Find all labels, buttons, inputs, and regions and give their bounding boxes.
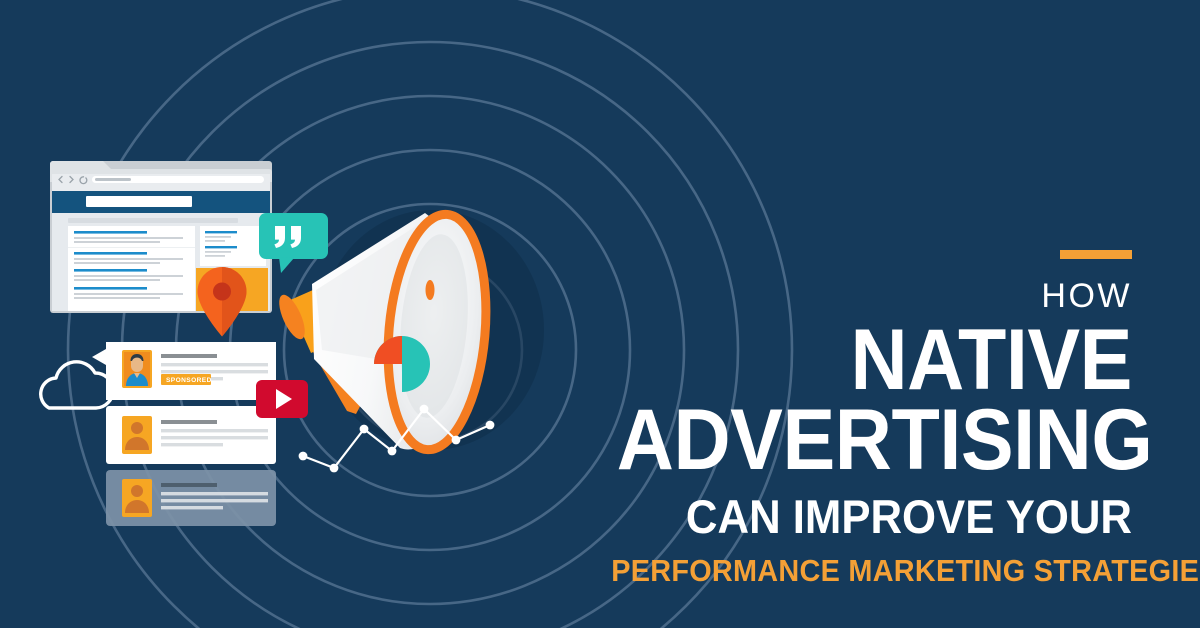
result-divider	[68, 247, 195, 248]
card-text-line	[161, 443, 223, 446]
filter-bar	[68, 218, 238, 223]
card-title-line	[161, 483, 217, 487]
card-text-line	[161, 436, 268, 439]
result-title	[74, 231, 147, 234]
headline-block: HOW NATIVE ADVERTISING CAN IMPROVE YOUR …	[572, 250, 1132, 588]
result-title	[74, 252, 147, 255]
sidebar-title	[205, 246, 237, 248]
video-play-button[interactable]	[256, 380, 308, 418]
headline-kicker: HOW	[572, 279, 1132, 313]
megaphone-center-dot	[426, 280, 435, 300]
headline-line-2: ADVERTISING	[617, 401, 1132, 481]
search-input[interactable]	[86, 196, 192, 207]
sidebar-line	[205, 240, 225, 242]
result-line	[74, 279, 160, 281]
headline-line-1: NATIVE	[617, 321, 1132, 401]
map-pin-dot	[213, 283, 231, 301]
sidebar-line	[205, 236, 231, 238]
feed-card-sponsored[interactable]: SPONSORED	[92, 342, 276, 400]
cloud-icon	[41, 362, 113, 408]
feed-card-tail	[92, 349, 106, 365]
sidebar-title	[205, 231, 237, 233]
result-line	[74, 241, 160, 243]
sidebar-line	[205, 251, 231, 253]
card-text-line	[161, 363, 268, 366]
result-line	[74, 293, 183, 295]
headline-line-3: CAN IMPROVE YOUR	[611, 491, 1132, 544]
result-title	[74, 287, 147, 290]
card-title-line	[161, 420, 217, 424]
speech-bubble-tail	[279, 257, 294, 273]
card-text-line	[161, 499, 268, 502]
sidebar-line	[205, 255, 225, 257]
result-line	[74, 258, 183, 260]
feed-card-muted[interactable]	[106, 470, 276, 526]
headline-subtitle: PERFORMANCE MARKETING STRATEGIES	[611, 553, 1132, 589]
native-advertising-banner: SPONSORED	[0, 0, 1200, 628]
card-text-line	[161, 429, 268, 432]
result-line	[74, 237, 183, 239]
result-title	[74, 269, 147, 272]
result-line	[74, 275, 183, 277]
accent-rule	[1060, 250, 1132, 259]
avatar-person-icon	[124, 352, 150, 386]
card-text-line	[161, 506, 223, 509]
result-line	[74, 262, 160, 264]
sponsored-badge-label: SPONSORED	[166, 377, 212, 384]
card-text-line	[161, 492, 268, 495]
feed-card-second[interactable]	[106, 406, 276, 464]
result-line	[74, 297, 160, 299]
map-pin-icon	[198, 267, 247, 337]
card-text-line	[161, 370, 268, 373]
url-text	[95, 178, 131, 181]
card-title-line	[161, 354, 217, 358]
